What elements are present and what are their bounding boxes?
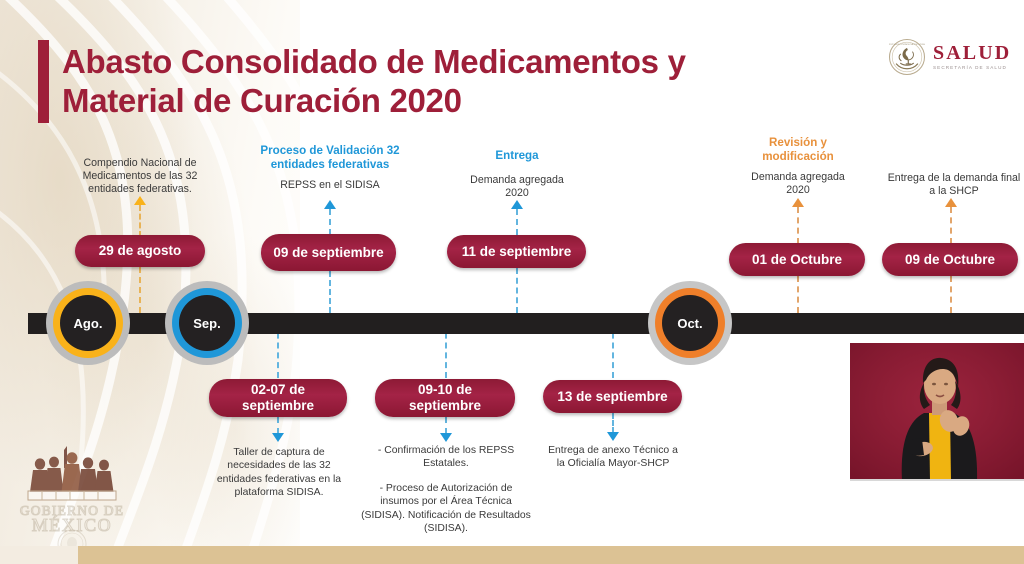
milestone-above-4-connector — [950, 207, 952, 244]
milestone-below-0-arrow-icon — [272, 433, 284, 442]
timeline-month-node-ago[interactable]: Ago. — [46, 281, 130, 365]
milestone-above-2-heading: Entrega — [452, 149, 582, 163]
presentation-slide: Abasto Consolidado de Medicamentos y Mat… — [0, 0, 1024, 564]
page-title-line-2: Material de Curación 2020 — [62, 81, 852, 120]
milestone-below-2-body-part-0: Entrega de anexo Técnico a la Oficialía … — [546, 444, 680, 471]
milestone-below-2-arrow-icon — [607, 432, 619, 441]
page-title-line-1: Abasto Consolidado de Medicamentos y — [62, 42, 852, 81]
milestone-above-3-connector-lower — [797, 276, 799, 313]
milestone-above-1-heading: Proceso de Validación 32 entidades feder… — [245, 144, 415, 172]
milestone-above-4-date-pill[interactable]: 09 de Octubre — [882, 243, 1018, 276]
milestone-above-1-connector-lower — [329, 271, 331, 313]
milestone-below-0-body-part-0: Taller de captura de necesidades de las … — [209, 446, 349, 500]
month-label-oct: Oct. — [662, 295, 718, 351]
milestone-above-1-arrow-icon — [324, 200, 336, 209]
milestone-below-2-body: Entrega de anexo Técnico a la Oficialía … — [546, 444, 680, 471]
milestone-above-2-connector-lower — [516, 268, 518, 313]
milestone-below-1-connector-lower — [445, 417, 447, 434]
milestone-below-2-date-pill[interactable]: 13 de septiembre — [543, 380, 682, 413]
gobierno-de-mexico-watermark: GOBIERNO DE MÉXICO — [18, 432, 126, 552]
milestone-below-2-connector-lower — [612, 413, 614, 433]
salud-wordmark: SALUD SECRETARÍA DE SALUD — [933, 43, 1011, 71]
milestone-below-0-body: Taller de captura de necesidades de las … — [209, 446, 349, 500]
timeline-month-node-sep[interactable]: Sep. — [165, 281, 249, 365]
milestone-above-2-date-pill[interactable]: 11 de septiembre — [447, 235, 586, 268]
milestone-above-0-connector — [139, 205, 141, 237]
month-label-ago: Ago. — [60, 295, 116, 351]
milestone-above-0-body: Compendio Nacional de Medicamentos de la… — [62, 157, 218, 196]
svg-text:MÉXICO: MÉXICO — [32, 514, 113, 535]
milestone-above-0-connector-lower — [139, 267, 141, 313]
milestone-above-0-arrow-icon — [134, 196, 146, 205]
milestone-above-1-date-pill[interactable]: 09 de septiembre — [261, 234, 396, 271]
timeline-month-node-oct[interactable]: Oct. — [648, 281, 732, 365]
milestone-above-1-body: REPSS en el SIDISA — [250, 179, 410, 192]
milestone-above-2-arrow-icon — [511, 200, 523, 209]
milestone-below-1-arrow-icon — [440, 433, 452, 442]
milestone-below-0-connector-lower — [277, 417, 279, 434]
interpreter-figure — [850, 343, 1024, 481]
sign-language-interpreter-video[interactable] — [850, 343, 1024, 481]
milestone-above-1-connector — [329, 209, 331, 235]
milestone-above-3-arrow-icon — [792, 198, 804, 207]
milestone-above-4-arrow-icon — [945, 198, 957, 207]
salud-logo: ESTADOS UNIDOS MEXICANOS SALUD SECRETARÍ… — [888, 36, 1010, 78]
milestone-above-3-connector — [797, 207, 799, 244]
milestone-above-4-connector-lower — [950, 276, 952, 313]
milestone-above-3-heading: Revisión y modificación — [738, 136, 858, 164]
svg-text:ESTADOS UNIDOS MEXICANOS: ESTADOS UNIDOS MEXICANOS — [889, 43, 926, 46]
page-title: Abasto Consolidado de Medicamentos y Mat… — [62, 42, 852, 120]
milestone-below-1-body: - Confirmación de los REPSS Estatales. -… — [360, 444, 532, 535]
bottom-tan-bar — [78, 546, 1024, 564]
milestone-below-1-body-part-0: - Confirmación de los REPSS Estatales. — [360, 444, 532, 471]
milestone-above-4-body: Entrega de la demanda final a la SHCP — [886, 172, 1022, 198]
month-label-sep: Sep. — [179, 295, 235, 351]
salud-subtitle: SECRETARÍA DE SALUD — [933, 64, 1011, 71]
milestone-above-2-connector — [516, 209, 518, 235]
title-accent-bar — [38, 40, 49, 123]
milestone-above-3-body: Demanda agregada 2020 — [740, 171, 856, 197]
milestone-below-1-date-pill[interactable]: 09-10 de septiembre — [375, 379, 515, 417]
milestone-below-1-body-part-1: - Proceso de Autorización de insumos por… — [360, 482, 532, 536]
mexican-eagle-emblem-icon: ESTADOS UNIDOS MEXICANOS — [888, 38, 926, 76]
milestone-above-3-date-pill[interactable]: 01 de Octubre — [729, 243, 865, 276]
bottom-bar-left-segment — [0, 546, 78, 564]
milestone-above-0-date-pill[interactable]: 29 de agosto — [75, 235, 205, 267]
salud-word: SALUD — [933, 43, 1011, 64]
milestone-above-2-body: Demanda agregada 2020 — [462, 174, 572, 200]
milestone-below-0-date-pill[interactable]: 02-07 de septiembre — [209, 379, 347, 417]
